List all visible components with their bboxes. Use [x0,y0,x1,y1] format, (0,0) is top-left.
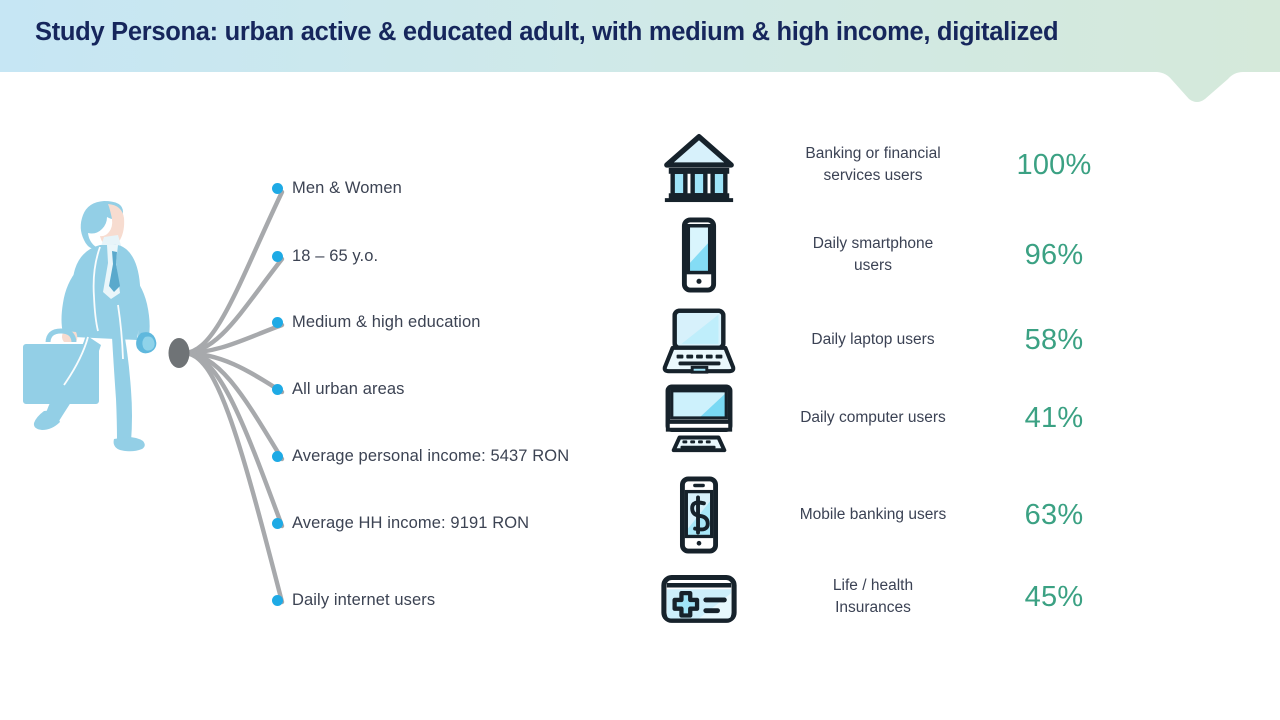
fan-hub [169,338,190,368]
bullet-dot-icon [272,251,283,262]
stat-label: Life / healthInsurances [758,575,988,619]
bank-icon [660,125,738,205]
list-item[interactable]: 18 – 65 y.o. [272,244,378,268]
list-item-label: Average personal income: 5437 RON [292,447,569,466]
stat-value: 100% [994,149,1114,182]
desktop-computer-icon [660,378,738,458]
stat-value: 45% [994,581,1114,614]
list-item-label: Daily internet users [292,591,435,610]
list-item-label: Medium & high education [292,313,481,332]
persona-attribute-list: Men & Women 18 – 65 y.o. Medium & high e… [272,170,652,620]
bullet-dot-icon [272,183,283,194]
list-item[interactable]: Men & Women [272,176,402,200]
bullet-dot-icon [272,518,283,529]
slide-canvas: Study Persona: urban active & educated a… [0,0,1280,720]
stat-row[interactable]: Daily smartphoneusers 96% [660,215,1120,295]
insurance-card-icon [660,557,738,637]
smartphone-icon [660,215,738,295]
stat-label: Banking or financialservices users [758,143,988,187]
list-item[interactable]: Daily internet users [272,588,435,612]
mobile-banking-icon [660,475,738,555]
stat-label: Daily computer users [758,407,988,429]
list-item-label: 18 – 65 y.o. [292,247,378,266]
stat-label: Daily smartphoneusers [758,233,988,277]
list-item[interactable]: Average HH income: 9191 RON [272,511,529,535]
stat-row[interactable]: Banking or financialservices users 100% [660,125,1120,205]
stat-value: 96% [994,239,1114,272]
stat-row[interactable]: Life / healthInsurances 45% [660,557,1120,637]
stat-row[interactable]: Daily laptop users 58% [660,300,1120,380]
stat-row[interactable]: Daily computer users 41% [660,378,1120,458]
laptop-icon [660,300,738,380]
stat-value: 58% [994,324,1114,357]
stat-label: Mobile banking users [758,504,988,526]
list-item-label: Men & Women [292,179,402,198]
bullet-dot-icon [272,595,283,606]
stat-value: 63% [994,499,1114,532]
list-item-label: All urban areas [292,380,404,399]
page-title: Study Persona: urban active & educated a… [35,18,1235,47]
list-item[interactable]: Medium & high education [272,310,481,334]
bullet-dot-icon [272,317,283,328]
header-band [0,0,1280,102]
stat-row[interactable]: Mobile banking users 63% [660,475,1120,555]
bullet-dot-icon [272,451,283,462]
stat-value: 41% [994,402,1114,435]
list-item[interactable]: All urban areas [272,377,404,401]
list-item-label: Average HH income: 9191 RON [292,514,529,533]
bullet-dot-icon [272,384,283,395]
list-item[interactable]: Average personal income: 5437 RON [272,444,569,468]
stat-label: Daily laptop users [758,329,988,351]
